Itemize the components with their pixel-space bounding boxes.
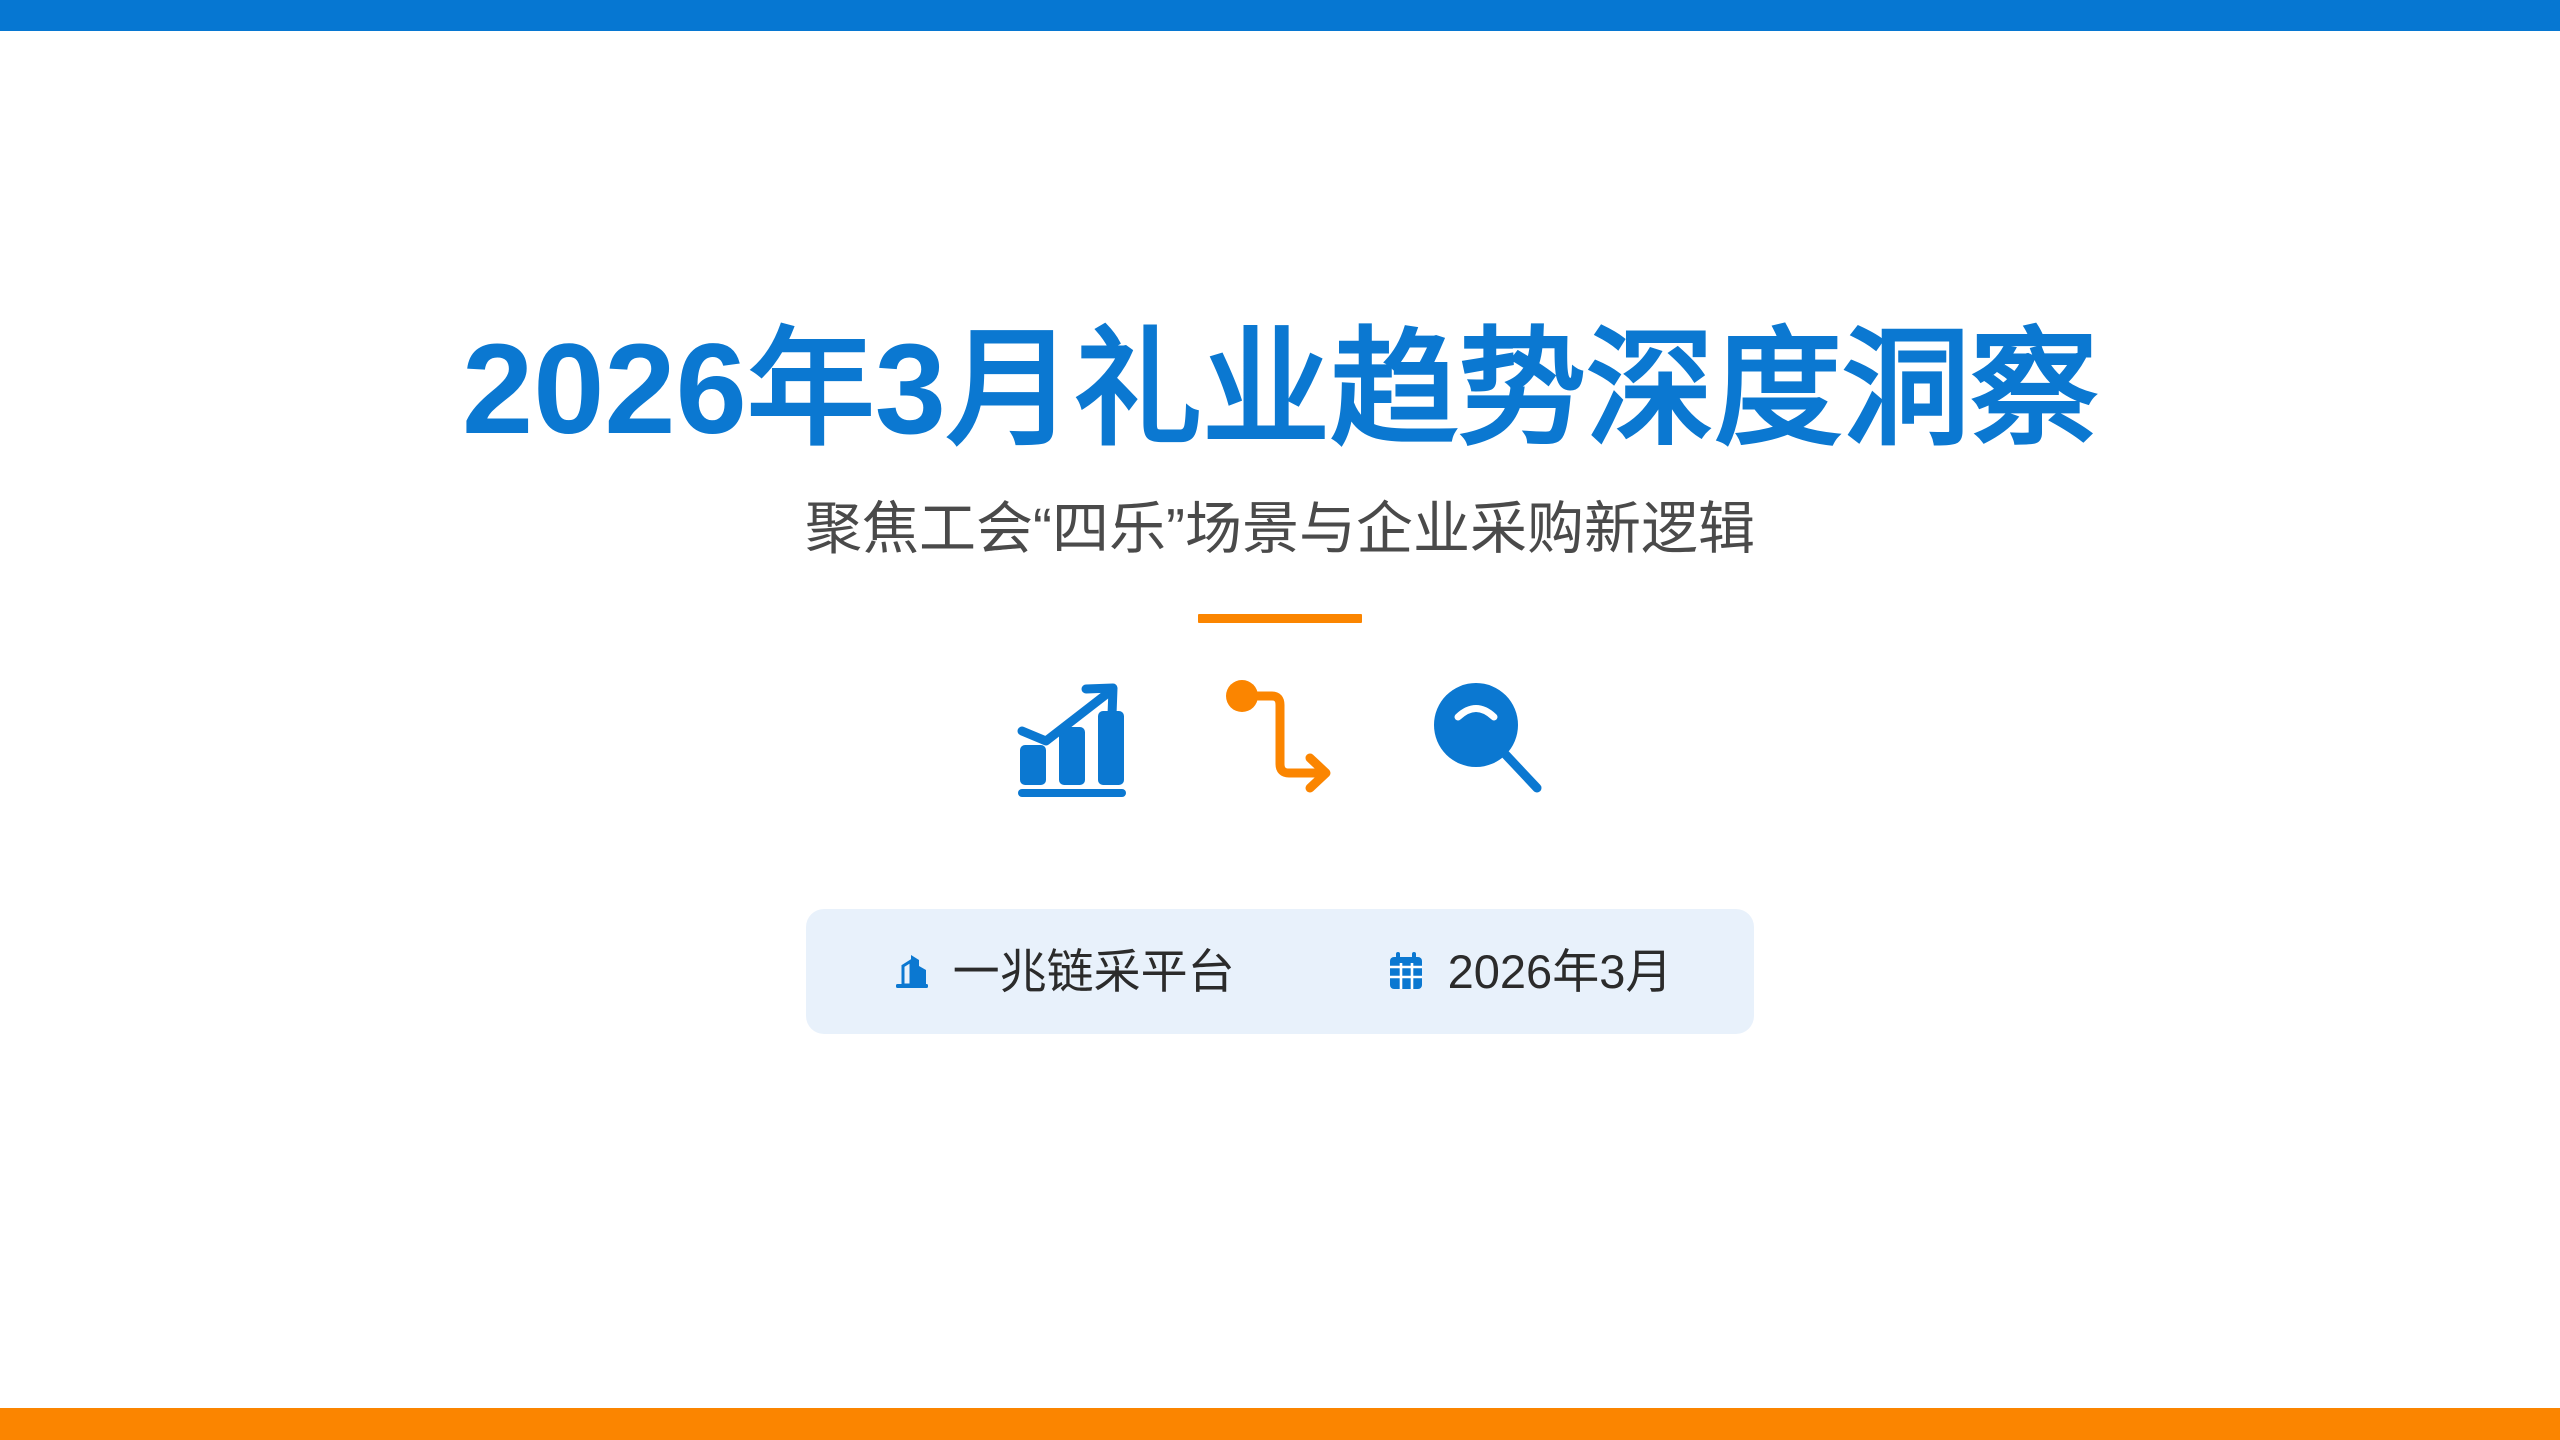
badge-item-date: 2026年3月	[1383, 948, 1673, 995]
orange-divider	[1198, 614, 1362, 623]
page-subtitle: 聚焦工会“四乐”场景与企业采购新逻辑	[805, 495, 1755, 563]
growth-chart-icon	[1007, 673, 1137, 803]
building-icon	[888, 948, 934, 994]
calendar-icon	[1383, 948, 1429, 994]
page-title: 2026年3月礼业趋势深度洞察	[462, 318, 2098, 461]
flow-arrow-icon	[1215, 673, 1345, 803]
magnifier-insight-icon	[1423, 673, 1553, 803]
bottom-accent-bar	[0, 1408, 2560, 1440]
icon-row	[1007, 673, 1553, 803]
badge-item-platform: 一兆链采平台	[888, 948, 1235, 995]
meta-badge: 一兆链采平台 2026年	[806, 909, 1754, 1034]
presentation-slide: 2026年3月礼业趋势深度洞察 聚焦工会“四乐”场景与企业采购新逻辑	[0, 0, 2560, 1440]
badge-label-date: 2026年3月	[1448, 948, 1673, 995]
badge-label-platform: 一兆链采平台	[953, 948, 1235, 995]
slide-content: 2026年3月礼业趋势深度洞察 聚焦工会“四乐”场景与企业采购新逻辑	[0, 0, 2560, 1440]
